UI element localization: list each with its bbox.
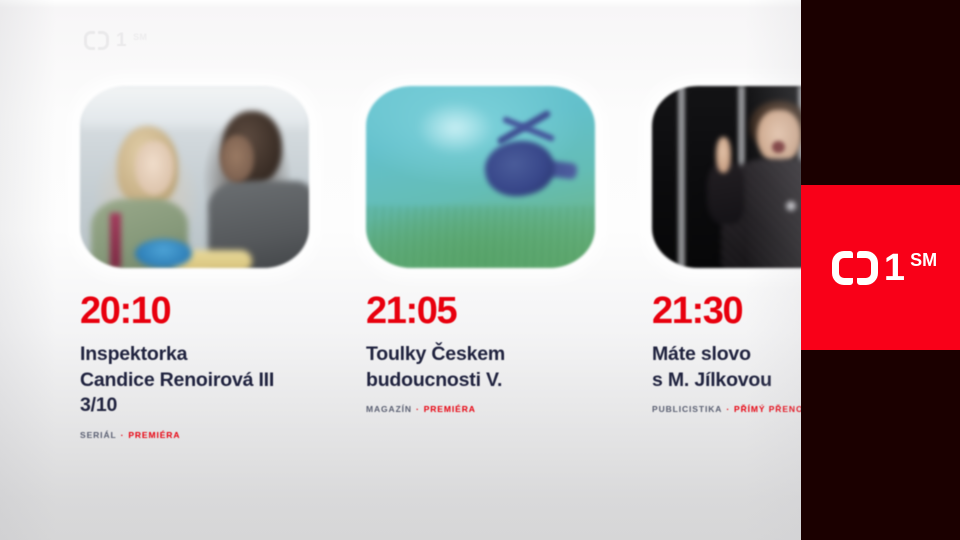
channel-suffix: SM: [910, 250, 937, 271]
ct-logo-mark-icon: [832, 251, 878, 285]
programme-title: Inspektorka Candice Renoirová III 3/10: [80, 342, 358, 419]
programme-flag: PŘÍMÝ PŘENOS: [734, 404, 801, 414]
programme-tags: SERIÁL·PREMIÉRA: [80, 431, 358, 440]
channel-watermark: 1 SM: [84, 31, 147, 50]
thumbnail-image: [366, 86, 595, 268]
programme-meta: 21:05 Toulky Českem budoucnosti V. MAGAZ…: [366, 292, 644, 414]
tag-separator: ·: [121, 430, 125, 440]
programme-title: Máte slovo s M. Jílkovou: [652, 342, 801, 393]
programme-tags: MAGAZÍN·PREMIÉRA: [366, 405, 644, 414]
tag-separator: ·: [726, 404, 730, 414]
channel-logo-block: 1 SM: [801, 185, 960, 350]
watermark-channel-number: 1: [116, 31, 126, 50]
programme-genre: MAGAZÍN: [366, 404, 412, 414]
programme-genre: SERIÁL: [80, 430, 117, 440]
programme-flag: PREMIÉRA: [128, 430, 180, 440]
programme-meta: 21:30 Máte slovo s M. Jílkovou PUBLICIST…: [652, 292, 801, 414]
tag-separator: ·: [416, 404, 420, 414]
channel-number: 1: [884, 249, 904, 287]
programme-time: 21:30: [652, 292, 801, 330]
programme-time: 21:05: [366, 292, 644, 330]
broadcast-area: 1 SM 20:10 In: [0, 0, 801, 540]
serial-thumbnail[interactable]: [80, 86, 309, 268]
programme-flag: PREMIÉRA: [424, 404, 476, 414]
programme-tags: PUBLICISTIKA·PŘÍMÝ PŘENOS: [652, 405, 801, 414]
programme-card[interactable]: 21:30 Máte slovo s M. Jílkovou PUBLICIST…: [652, 86, 801, 414]
ct-logo-mark-icon: [84, 31, 109, 50]
programme-time: 20:10: [80, 292, 358, 330]
programme-title: Toulky Českem budoucnosti V.: [366, 342, 644, 393]
programme-meta: 20:10 Inspektorka Candice Renoirová III …: [80, 292, 358, 440]
programme-genre: PUBLICISTIKA: [652, 404, 722, 414]
watermark-channel-suffix: SM: [133, 32, 147, 42]
talkshow-thumbnail[interactable]: [652, 86, 801, 268]
programme-card[interactable]: 21:05 Toulky Českem budoucnosti V. MAGAZ…: [366, 86, 644, 414]
screen: 1 SM 20:10 In: [0, 0, 960, 540]
side-panel: 1 SM: [801, 0, 960, 540]
programme-card[interactable]: 20:10 Inspektorka Candice Renoirová III …: [80, 86, 358, 440]
thumbnail-image: [80, 86, 309, 268]
thumbnail-image: [652, 86, 801, 268]
documentary-thumbnail[interactable]: [366, 86, 595, 268]
